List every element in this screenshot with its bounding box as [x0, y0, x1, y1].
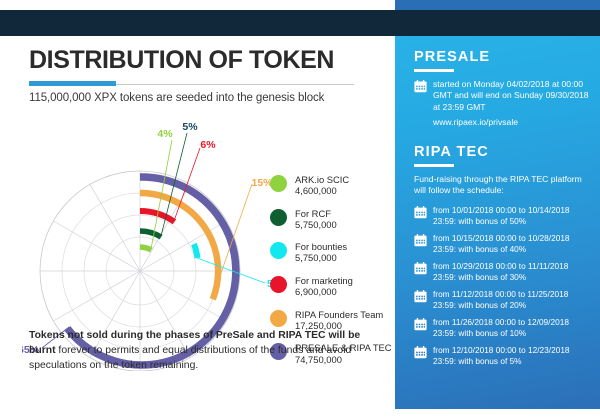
calendar-icon	[414, 80, 427, 93]
ripa-tec-intro: Fund-raising through the RIPA TEC platfo…	[414, 174, 589, 197]
calendar-icon	[414, 290, 427, 303]
legend-item: RIPA Founders Team 17,250,000	[270, 309, 395, 331]
legend-item-name: For RCF	[295, 208, 337, 219]
legend-color-swatch	[270, 209, 287, 226]
chart-label-for-marketing: 6%	[200, 139, 216, 151]
burn-note-rest: forever to permits and equal distributio…	[29, 345, 351, 371]
ripa-tec-section: RIPA TEC Fund-raising through the RIPA T…	[414, 144, 589, 373]
calendar-icon	[414, 262, 427, 275]
schedule-text: from 10/01/2018 00:00 to 10/14/2018 23:5…	[433, 205, 589, 227]
schedule-row: from 12/10/2018 00:00 to 12/23/2018 23:5…	[414, 345, 589, 367]
chart-label-ripa-founders-team: 15%	[251, 177, 272, 189]
presale-url[interactable]: www.ripaex.io/privsale	[433, 117, 589, 127]
title-accent-bar	[29, 81, 116, 86]
schedule-text: from 10/29/2018 00:00 to 11/11/2018 23:5…	[433, 261, 589, 283]
presale-body: started on Monday 04/02/2018 at 00:00 GM…	[433, 79, 589, 114]
legend-item-amount: 5,750,000	[295, 219, 337, 230]
legend-item-name: RIPA Founders Team	[295, 309, 383, 320]
arc-ark-io-scic	[140, 247, 151, 250]
left-content-panel: DISTRIBUTION OF TOKEN 115,000,000 XPX to…	[0, 36, 395, 404]
ripa-tec-heading-rule	[414, 164, 454, 167]
legend-color-swatch	[270, 276, 287, 293]
schedule-text: from 11/26/2018 00:00 to 12/09/2018 23:5…	[433, 317, 589, 339]
legend-item: For marketing 6,900,000	[270, 275, 395, 297]
legend-item-amount: 6,900,000	[295, 286, 353, 297]
chart-label-ark-io-scic: 4%	[157, 128, 173, 140]
legend-item: For RCF 5,750,000	[270, 208, 395, 230]
legend-item-name: For bounties	[295, 241, 347, 252]
legend-item: ARK.io SCIC 4,600,000	[270, 174, 395, 196]
calendar-icon	[414, 234, 427, 247]
schedule-text: from 10/15/2018 00:00 to 10/28/2018 23:5…	[433, 233, 589, 255]
legend-color-swatch	[270, 242, 287, 259]
calendar-icon	[414, 318, 427, 331]
schedule-text: from 12/10/2018 00:00 to 12/23/2018 23:5…	[433, 345, 589, 367]
calendar-icon	[414, 206, 427, 219]
presale-heading: PRESALE	[414, 49, 589, 65]
legend-item: For bounties 5,750,000	[270, 241, 395, 263]
right-info-panel: PRESALE started on Monday 04/02	[395, 11, 600, 409]
presale-section: PRESALE started on Monday 04/02	[414, 49, 589, 133]
legend-item-amount: 5,750,000	[295, 252, 347, 263]
page-subtitle: 115,000,000 XPX tokens are seeded into t…	[29, 92, 324, 104]
schedule-row: from 10/29/2018 00:00 to 11/11/2018 23:5…	[414, 261, 589, 283]
legend-color-swatch	[270, 175, 287, 192]
legend-color-swatch	[270, 310, 287, 327]
chart-label-for-rcf: 5%	[182, 121, 198, 133]
presale-row: started on Monday 04/02/2018 at 00:00 GM…	[414, 79, 589, 128]
right-panel-dark-cap	[395, 11, 600, 36]
presale-heading-rule	[414, 69, 454, 72]
schedule-row: from 10/15/2018 00:00 to 10/28/2018 23:5…	[414, 233, 589, 255]
arc-for-rcf	[140, 231, 161, 237]
schedule-row: from 10/01/2018 00:00 to 10/14/2018 23:5…	[414, 205, 589, 227]
calendar-icon	[414, 346, 427, 359]
arc-for-bounties	[194, 244, 198, 258]
legend-item-amount: 4,600,000	[295, 185, 349, 196]
infographic-page: DISTRIBUTION OF TOKEN 115,000,000 XPX to…	[0, 0, 600, 420]
schedule-text: from 11/12/2018 00:00 to 11/25/2018 23:5…	[433, 289, 589, 311]
ripa-tec-heading: RIPA TEC	[414, 144, 589, 160]
page-title: DISTRIBUTION OF TOKEN	[29, 46, 334, 75]
schedule-row: from 11/12/2018 00:00 to 11/25/2018 23:5…	[414, 289, 589, 311]
schedule-row: from 11/26/2018 00:00 to 12/09/2018 23:5…	[414, 317, 589, 339]
legend-item-name: For marketing	[295, 275, 353, 286]
legend-item-name: ARK.io SCIC	[295, 174, 349, 185]
burn-note: Tokens not sold during the phases of Pre…	[29, 329, 379, 373]
